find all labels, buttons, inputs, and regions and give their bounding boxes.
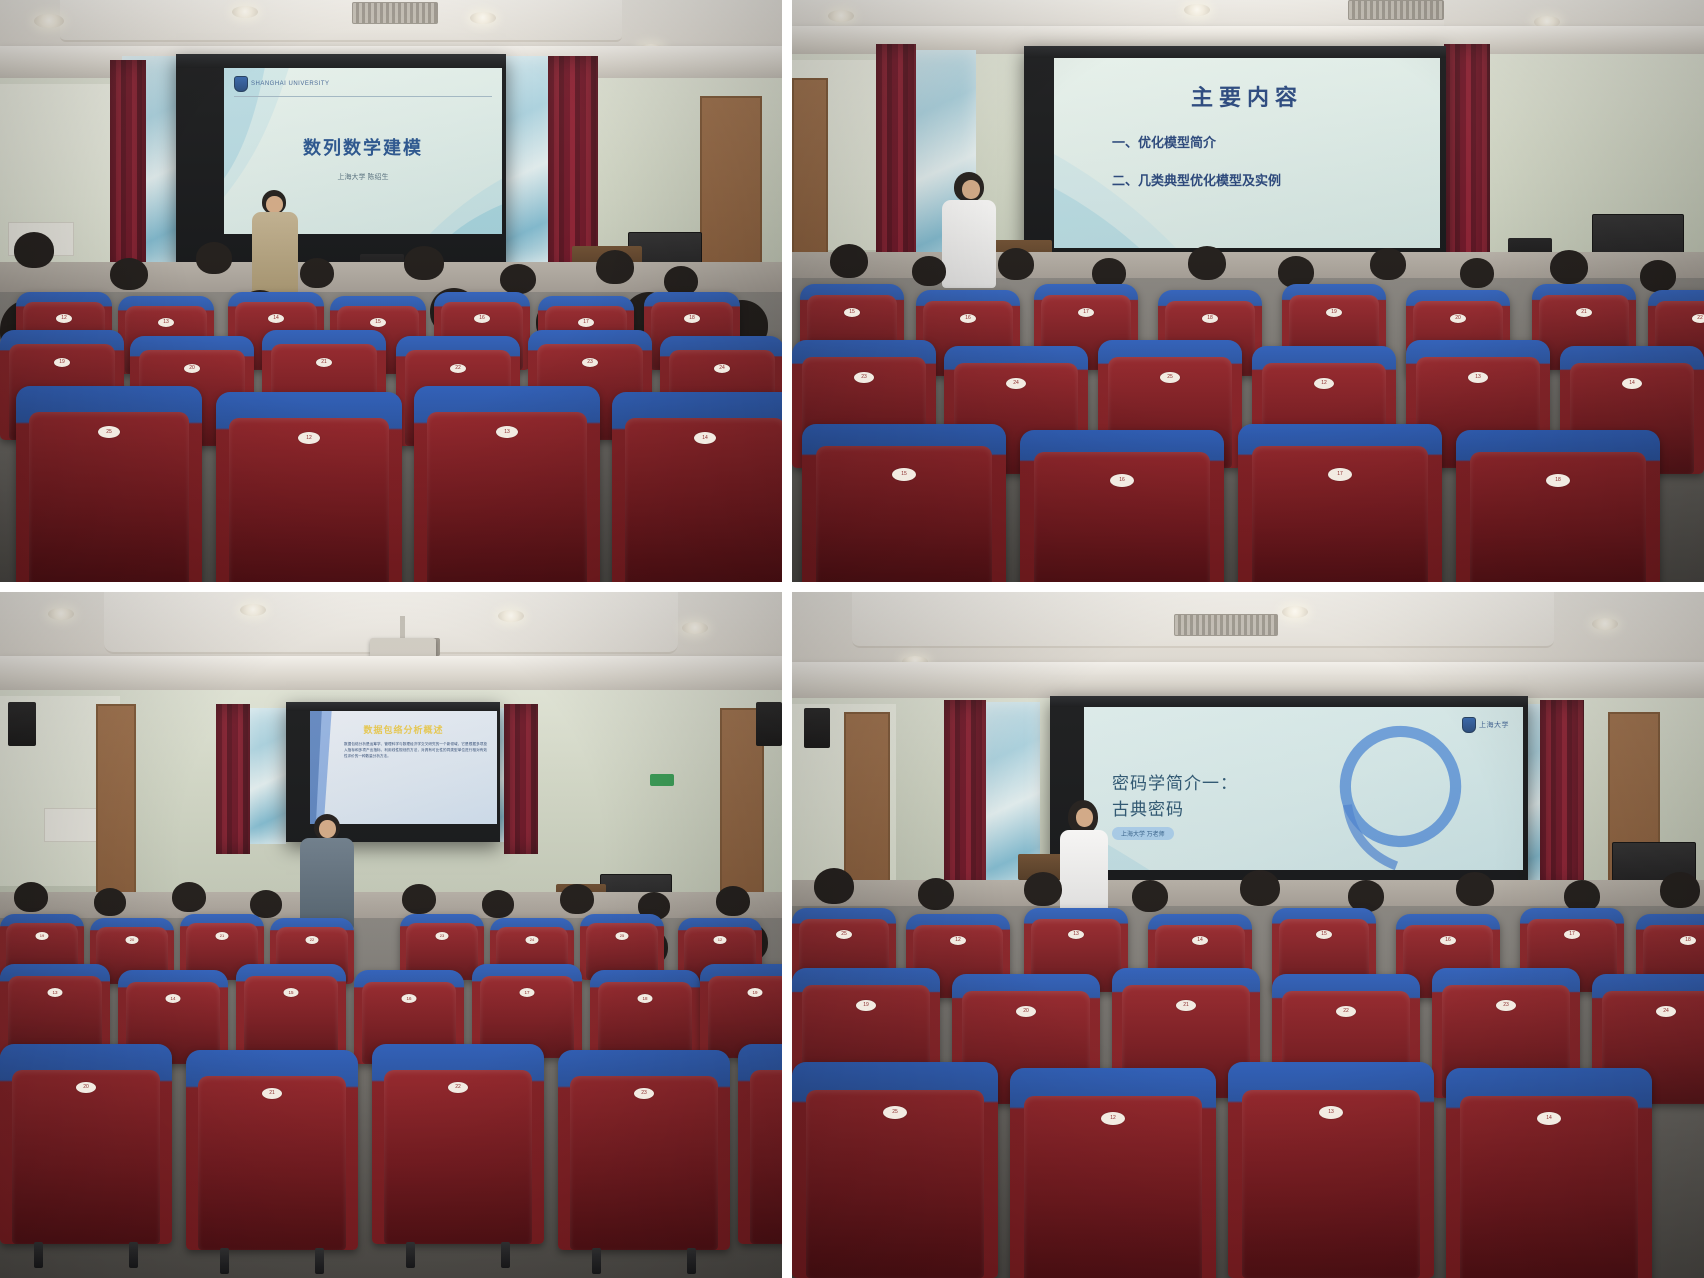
slide-body-text: 数据包络分析是运筹学、管理科学与数理经济学交叉研究的一个新领域，它是根据多项投入… <box>344 741 487 759</box>
seat-number-tag: 25 <box>98 426 120 438</box>
slide-item-2: 二、几类典型优化模型及实例 <box>1112 170 1281 189</box>
downlight-icon <box>1282 606 1308 618</box>
seat-number-tag: 14 <box>268 314 284 323</box>
projection-screen: SHANGHAI UNIVERSITY 数列数学建模 上海大学 陈绍生 <box>176 54 506 270</box>
auditorium-seat[interactable]: 14 <box>612 392 782 582</box>
seat-number-tag: 14 <box>1192 936 1208 945</box>
seat-number-tag: 14 <box>166 994 181 1003</box>
exit-sign-icon <box>650 774 674 786</box>
seat-number-tag: 15 <box>284 988 299 997</box>
hall-door[interactable] <box>844 712 890 884</box>
slide-title-line2: 古典密码 <box>1112 795 1184 820</box>
seat-number-tag: 14 <box>1537 1112 1561 1125</box>
seat-number-tag: 16 <box>1110 474 1134 487</box>
auditorium-seat[interactable]: 22 <box>372 1044 544 1244</box>
seat-number-tag: 13 <box>158 318 174 327</box>
photo-panel-top-left[interactable]: SHANGHAI UNIVERSITY 数列数学建模 上海大学 陈绍生 <box>0 0 782 582</box>
slide-logo: 上海大学 <box>1462 717 1509 733</box>
seat-number-tag: 21 <box>216 932 229 940</box>
downlight-icon <box>240 604 266 616</box>
slide-author-badge: 上海大学 万老师 <box>1112 827 1174 840</box>
seat-number-tag: 25 <box>616 932 629 940</box>
loudspeaker <box>804 708 830 748</box>
seat-number-tag: 22 <box>1692 314 1704 323</box>
seat-number-tag: 19 <box>1326 308 1342 317</box>
seat-number-tag: 19 <box>748 988 763 997</box>
downlight-icon <box>1184 4 1210 16</box>
auditorium-seat[interactable]: 25 <box>792 1062 998 1278</box>
seat-number-tag: 25 <box>883 1106 907 1119</box>
seat-number-tag: 19 <box>54 358 70 367</box>
seat-number-tag: 22 <box>306 936 319 944</box>
auditorium-seat[interactable]: 17 <box>1238 424 1442 582</box>
downlight-icon <box>232 6 258 18</box>
university-crest-icon <box>234 76 248 92</box>
seat-number-tag: 23 <box>436 932 449 940</box>
seat-number-tag: 13 <box>48 988 63 997</box>
presenter <box>940 172 1000 290</box>
seat-number-tag: 21 <box>316 358 332 367</box>
slide-bottom-left: 数据包络分析概述 数据包络分析是运筹学、管理科学与数理经济学交叉研究的一个新领域… <box>310 711 497 824</box>
seat-number-tag: 18 <box>638 994 653 1003</box>
seat-number-tag: 22 <box>448 1082 468 1093</box>
seat-number-tag: 16 <box>402 994 417 1003</box>
auditorium-seat[interactable]: 23 <box>558 1050 730 1250</box>
seat-number-tag: 20 <box>126 936 139 944</box>
photo-panel-bottom-right[interactable]: 上海大学 密码学简介一： 古典密码 上海大学 万老师 <box>792 592 1704 1278</box>
downlight-icon <box>498 610 524 622</box>
loudspeaker <box>756 702 782 746</box>
slide-logo-text: 上海大学 <box>1479 720 1509 730</box>
seat-number-tag: 23 <box>854 372 874 383</box>
auditorium-seat[interactable]: 18 <box>1456 430 1660 582</box>
downlight-icon <box>470 12 496 24</box>
projection-screen: 主要内容 一、优化模型简介 二、几类典型优化模型及实例 <box>1024 46 1446 276</box>
seat-number-tag: 14 <box>1622 378 1642 389</box>
seat-number-tag: 20 <box>1016 1006 1036 1017</box>
photo-collage: SHANGHAI UNIVERSITY 数列数学建模 上海大学 陈绍生 <box>0 0 1704 1278</box>
photo-panel-top-right[interactable]: 主要内容 一、优化模型简介 二、几类典型优化模型及实例 <box>792 0 1704 582</box>
seat-number-tag: 13 <box>1468 372 1488 383</box>
seat-number-tag: 20 <box>76 1082 96 1093</box>
hall-door[interactable] <box>700 96 762 282</box>
slide-subtitle: 上海大学 陈绍生 <box>224 172 502 182</box>
air-vent-icon <box>1174 614 1278 636</box>
auditorium-seat[interactable]: 15 <box>236 964 346 1058</box>
auditorium-seat[interactable]: 25 <box>16 386 202 582</box>
slide-top-right: 主要内容 一、优化模型简介 二、几类典型优化模型及实例 <box>1054 58 1440 248</box>
slide-title: 主要内容 <box>1054 80 1440 112</box>
slide-title-line1: 密码学简介一： <box>1112 769 1238 794</box>
seat-number-tag: 20 <box>1450 314 1466 323</box>
seat-number-tag: 16 <box>1440 936 1456 945</box>
seat-number-tag: 17 <box>1328 468 1352 481</box>
seat-number-tag: 24 <box>526 936 539 944</box>
seat-number-tag: 17 <box>1564 930 1580 939</box>
seat-number-tag: 20 <box>184 364 200 373</box>
seat-number-tag: 18 <box>1202 314 1218 323</box>
seat-number-tag: 12 <box>1101 1112 1125 1125</box>
air-vent-icon <box>1348 0 1444 20</box>
seat-number-tag: 13 <box>496 426 518 438</box>
auditorium-seat[interactable]: 12 <box>1010 1068 1216 1278</box>
slide-item-1: 一、优化模型简介 <box>1112 132 1216 151</box>
seat-number-tag: 15 <box>1316 930 1332 939</box>
auditorium-seat[interactable]: 15 <box>802 424 1006 582</box>
seat-number-tag: 21 <box>1576 308 1592 317</box>
seat-number-tag: 23 <box>582 358 598 367</box>
university-crest-icon <box>1462 717 1476 733</box>
seat-number-tag: 25 <box>1160 372 1180 383</box>
hall-door[interactable] <box>792 78 828 254</box>
seat-number-tag: 23 <box>1496 1000 1516 1011</box>
air-vent-icon <box>352 2 438 24</box>
downlight-icon <box>682 622 708 634</box>
seat-number-tag: 19 <box>856 1000 876 1011</box>
presenter <box>248 190 302 300</box>
seat-number-tag: 24 <box>714 364 730 373</box>
seat-number-tag: 15 <box>844 308 860 317</box>
seat-number-tag: 16 <box>474 314 490 323</box>
downlight-icon <box>48 608 74 620</box>
projector-mount <box>400 616 405 640</box>
slide-bottom-right: 上海大学 密码学简介一： 古典密码 上海大学 万老师 <box>1084 707 1523 870</box>
seat-number-tag: 19 <box>36 932 49 940</box>
auditorium-seat[interactable]: 13 <box>414 386 600 582</box>
seat-number-tag: 22 <box>1336 1006 1356 1017</box>
downlight-icon <box>828 10 854 22</box>
downlight-icon <box>34 14 64 28</box>
slide-logo: SHANGHAI UNIVERSITY <box>234 76 330 92</box>
projection-screen: 上海大学 密码学简介一： 古典密码 上海大学 万老师 <box>1050 696 1528 892</box>
seat-number-tag: 24 <box>1656 1006 1676 1017</box>
slide-title: 数列数学建模 <box>224 134 502 160</box>
slide-title: 数据包络分析概述 <box>310 723 497 736</box>
seat-number-tag: 24 <box>1006 378 1026 389</box>
auditorium-seat[interactable]: 21 <box>186 1050 358 1250</box>
auditorium-seat[interactable]: 20 <box>0 1044 172 1244</box>
seat-number-tag: 13 <box>1068 930 1084 939</box>
seat-number-tag: 16 <box>960 314 976 323</box>
hall-door[interactable] <box>96 704 136 894</box>
seat-number-tag: 22 <box>450 364 466 373</box>
auditorium-seat[interactable]: 12 <box>216 392 402 582</box>
seat-number-tag: 12 <box>56 314 72 323</box>
seat-number-tag: 12 <box>1314 378 1334 389</box>
seat-number-tag: 23 <box>634 1088 654 1099</box>
seat-number-tag: 25 <box>836 930 852 939</box>
seat-number-tag: 15 <box>370 318 386 327</box>
seat-number-tag: 13 <box>1319 1106 1343 1119</box>
seat-number-tag: 17 <box>1078 308 1094 317</box>
seat-number-tag: 14 <box>694 432 716 444</box>
auditorium-seat[interactable]: 16 <box>1020 430 1224 582</box>
seat-number-tag: 17 <box>578 318 594 327</box>
auditorium-seat[interactable]: 14 <box>1446 1068 1652 1278</box>
seat-number-tag: 17 <box>520 988 535 997</box>
seat-number-tag: 18 <box>1680 936 1696 945</box>
presenter <box>1056 800 1112 914</box>
presenter <box>298 814 356 930</box>
seat-number-tag: 21 <box>1176 1000 1196 1011</box>
loudspeaker <box>8 702 36 746</box>
slide-logo-text: SHANGHAI UNIVERSITY <box>251 81 330 87</box>
seat-number-tag: 18 <box>684 314 700 323</box>
seat-number-tag: 12 <box>950 936 966 945</box>
seat-number-tag: 12 <box>714 936 727 944</box>
auditorium-seat[interactable]: 24 <box>738 1044 782 1244</box>
photo-panel-bottom-left[interactable]: 数据包络分析概述 数据包络分析是运筹学、管理科学与数理经济学交叉研究的一个新领域… <box>0 592 782 1278</box>
seat-number-tag: 15 <box>892 468 916 481</box>
seat-number-tag: 12 <box>298 432 320 444</box>
seat-number-tag: 21 <box>262 1088 282 1099</box>
auditorium-seat[interactable]: 13 <box>1228 1062 1434 1278</box>
downlight-icon <box>1592 618 1618 630</box>
seat-number-tag: 18 <box>1546 474 1570 487</box>
